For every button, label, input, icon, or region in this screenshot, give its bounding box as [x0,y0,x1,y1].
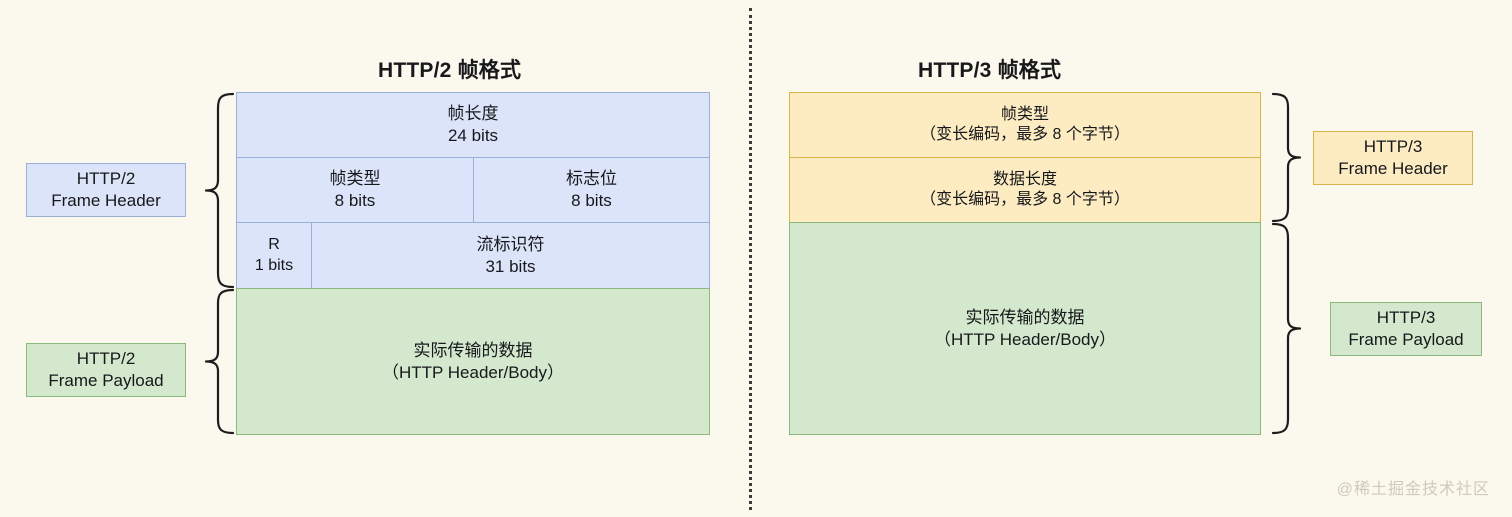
legend-line-2: Frame Payload [48,370,163,392]
field-label: 数据长度 [993,170,1057,190]
http2-field-flags: 标志位 8 bits [473,157,710,223]
http3-field-payload: 实际传输的数据 （HTTP Header/Body） [789,222,1261,435]
http2-header-brace-icon [203,92,237,289]
field-size: （变长编码，最多 8 个字节） [920,125,1130,145]
http2-field-stream-id: 流标识符 31 bits [311,222,710,289]
http2-field-payload: 实际传输的数据 （HTTP Header/Body） [236,288,710,435]
legend-line-1: HTTP/2 [77,168,136,190]
field-size: 8 bits [335,190,376,212]
http2-payload-brace-icon [203,288,237,435]
legend-line-1: HTTP/3 [1364,136,1423,158]
legend-line-1: HTTP/2 [77,348,136,370]
field-size: （变长编码，最多 8 个字节） [920,190,1130,210]
vertical-dotted-divider [749,8,752,510]
field-size: 31 bits [485,256,535,278]
field-label: 帧类型 [330,168,381,190]
watermark: @稀土掘金技术社区 [1337,475,1490,499]
http3-payload-brace-icon [1269,222,1303,435]
legend-http3-frame-header: HTTP/3 Frame Header [1313,131,1473,185]
field-label: R [268,235,280,255]
http2-field-frame-type: 帧类型 8 bits [236,157,474,223]
field-size: 24 bits [448,125,498,147]
http3-field-frame-type: 帧类型 （变长编码，最多 8 个字节） [789,92,1261,158]
field-size: 1 bits [255,256,293,276]
diagram-canvas: HTTP/2 帧格式 帧长度 24 bits 帧类型 8 bits 标志位 8 … [0,0,1512,517]
legend-line-1: HTTP/3 [1377,307,1436,329]
legend-line-2: Frame Header [1338,158,1448,180]
field-label: 帧长度 [448,103,499,125]
legend-http3-frame-payload: HTTP/3 Frame Payload [1330,302,1482,356]
field-size: 8 bits [571,190,612,212]
field-label: 实际传输的数据 [966,307,1085,329]
legend-http2-frame-payload: HTTP/2 Frame Payload [26,343,186,397]
field-label: 标志位 [566,168,617,190]
http2-field-reserved: R 1 bits [236,222,312,289]
http2-panel-title: HTTP/2 帧格式 [378,54,521,84]
legend-line-2: Frame Header [51,190,161,212]
legend-http2-frame-header: HTTP/2 Frame Header [26,163,186,217]
field-size: （HTTP Header/Body） [934,329,1116,351]
field-label: 实际传输的数据 [414,340,533,362]
field-size: （HTTP Header/Body） [382,362,564,384]
http3-field-data-length: 数据长度 （变长编码，最多 8 个字节） [789,157,1261,223]
legend-line-2: Frame Payload [1348,329,1463,351]
field-label: 流标识符 [477,234,545,256]
field-label: 帧类型 [1001,105,1049,125]
http2-field-frame-length: 帧长度 24 bits [236,92,710,158]
http3-header-brace-icon [1269,92,1303,223]
http3-panel-title: HTTP/3 帧格式 [918,54,1061,84]
